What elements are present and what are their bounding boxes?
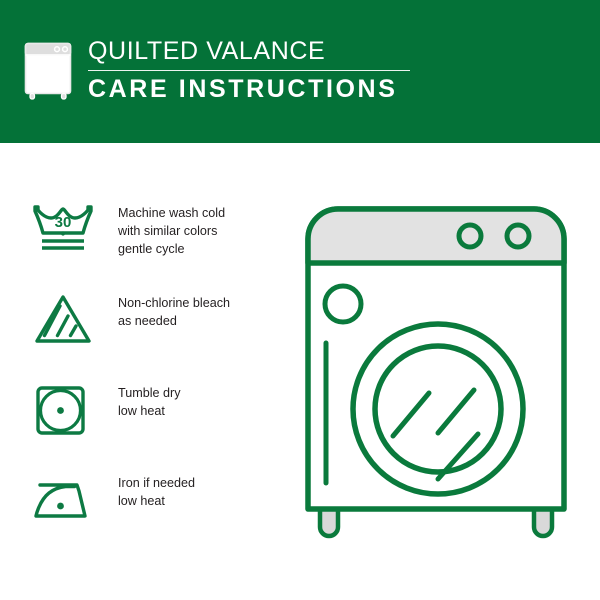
iron-low-heat-icon (30, 470, 96, 532)
care-instruction-list: 30 Machine wash cold with similar colors… (30, 200, 280, 560)
title-divider (88, 70, 410, 71)
tumble-dry-low-heat-icon (30, 380, 96, 442)
list-item: Non-chlorine bleach as needed (30, 290, 280, 380)
header-band: QUILTED VALANCE CARE INSTRUCTIONS (0, 0, 600, 143)
page-title-secondary: CARE INSTRUCTIONS (88, 76, 410, 103)
list-item: 30 Machine wash cold with similar colors… (30, 200, 280, 290)
care-instructions-poster: QUILTED VALANCE CARE INSTRUCTIONS 30 Mac… (0, 0, 600, 600)
page-title-primary: QUILTED VALANCE (88, 38, 410, 65)
list-item-label: Iron if needed low heat (118, 475, 195, 511)
body-area: 30 Machine wash cold with similar colors… (0, 143, 600, 600)
list-item-label: Non-chlorine bleach as needed (118, 295, 230, 331)
washer-drum-ring (375, 346, 501, 472)
non-chlorine-bleach-triangle-icon (30, 290, 96, 352)
washer-indicator-light (325, 286, 361, 322)
washing-machine-icon (22, 41, 74, 101)
list-item: Iron if needed low heat (30, 470, 280, 560)
front-load-washing-machine-illustration (296, 191, 576, 566)
list-item: Tumble dry low heat (30, 380, 280, 470)
washer-graphic (296, 191, 576, 566)
list-item-label: Tumble dry low heat (118, 385, 181, 421)
washer-knob-1 (459, 225, 481, 247)
header-content: QUILTED VALANCE CARE INSTRUCTIONS (22, 38, 410, 103)
list-item-label: Machine wash cold with similar colors ge… (118, 205, 225, 259)
header-title-block: QUILTED VALANCE CARE INSTRUCTIONS (88, 38, 410, 103)
washer-knob-2 (507, 225, 529, 247)
wash-temperature-label: 30 (55, 214, 72, 231)
wash-tub-30-gentle-icon: 30 (30, 200, 96, 262)
